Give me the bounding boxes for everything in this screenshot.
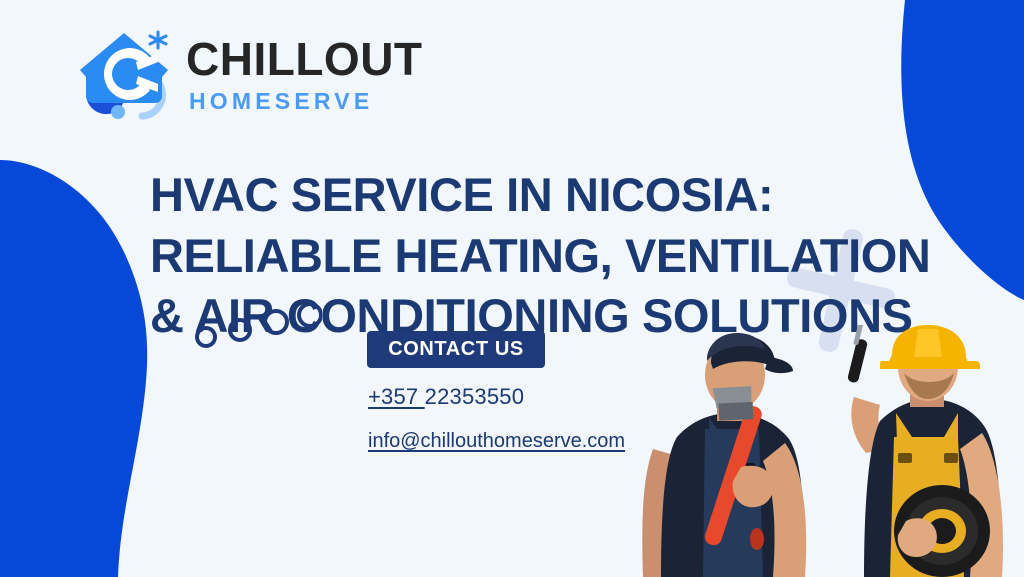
technician-with-hardhat-and-hose — [818, 325, 1018, 577]
decor-dot — [230, 320, 250, 340]
phone-country-code: +357 — [368, 384, 425, 409]
decorative-dots — [192, 303, 322, 349]
hvac-promo-banner: CHILLOUT HOMESERVE HVAC SERVICE IN NICOS… — [0, 0, 1024, 577]
decor-dot — [299, 304, 321, 326]
brand-tagline: HOMESERVE — [189, 90, 423, 113]
screwdriver-icon — [847, 325, 868, 384]
brand-name: CHILLOUT — [186, 36, 423, 82]
contact-email[interactable]: info@chillouthomeserve.com — [368, 430, 625, 453]
brand-logo[interactable]: CHILLOUT HOMESERVE — [78, 28, 423, 120]
headline-line-2: RELIABLE HEATING, VENTILATION — [150, 226, 1010, 286]
contact-phone[interactable]: +357 22353550 — [368, 384, 524, 410]
decor-dot — [265, 311, 287, 333]
decor-dot — [197, 328, 215, 346]
house-c-snowflake-logo-icon — [78, 28, 174, 120]
technician-with-pipe-wrench — [625, 317, 835, 577]
headline-line-1: HVAC SERVICE IN NICOSIA: — [150, 165, 1010, 225]
phone-number: 22353550 — [425, 384, 524, 409]
contact-us-button[interactable]: CONTACT US — [367, 331, 545, 368]
